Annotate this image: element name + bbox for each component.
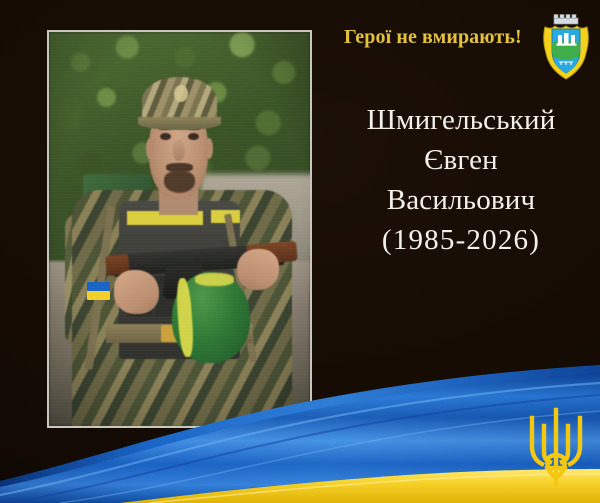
coat-of-arms-icon <box>540 10 592 82</box>
soldier-photo-image <box>49 32 310 426</box>
soldier-photo <box>47 30 312 428</box>
patronymic: Васильович <box>322 180 600 220</box>
memorial-poster: Герої не вмирають! Шмигельський Євген <box>0 0 600 503</box>
helmet-yellow-stripe-top <box>195 273 234 286</box>
mural-crown-icon <box>554 15 578 25</box>
tryzub-icon <box>527 406 585 490</box>
memorial-name-block: Шмигельський Євген Васильович (1985-2026… <box>322 100 600 260</box>
hand-left <box>114 270 158 313</box>
life-dates: (1985-2026) <box>322 220 600 260</box>
hand-right <box>237 249 279 290</box>
shield-bridge-icon <box>559 62 573 65</box>
first-name: Євген <box>322 140 600 180</box>
beard <box>164 171 195 193</box>
surname: Шмигельський <box>322 100 600 140</box>
heroes-slogan: Герої не вмирають! <box>344 26 536 49</box>
ukrainian-flag-patch <box>87 282 110 300</box>
nose <box>173 140 184 161</box>
